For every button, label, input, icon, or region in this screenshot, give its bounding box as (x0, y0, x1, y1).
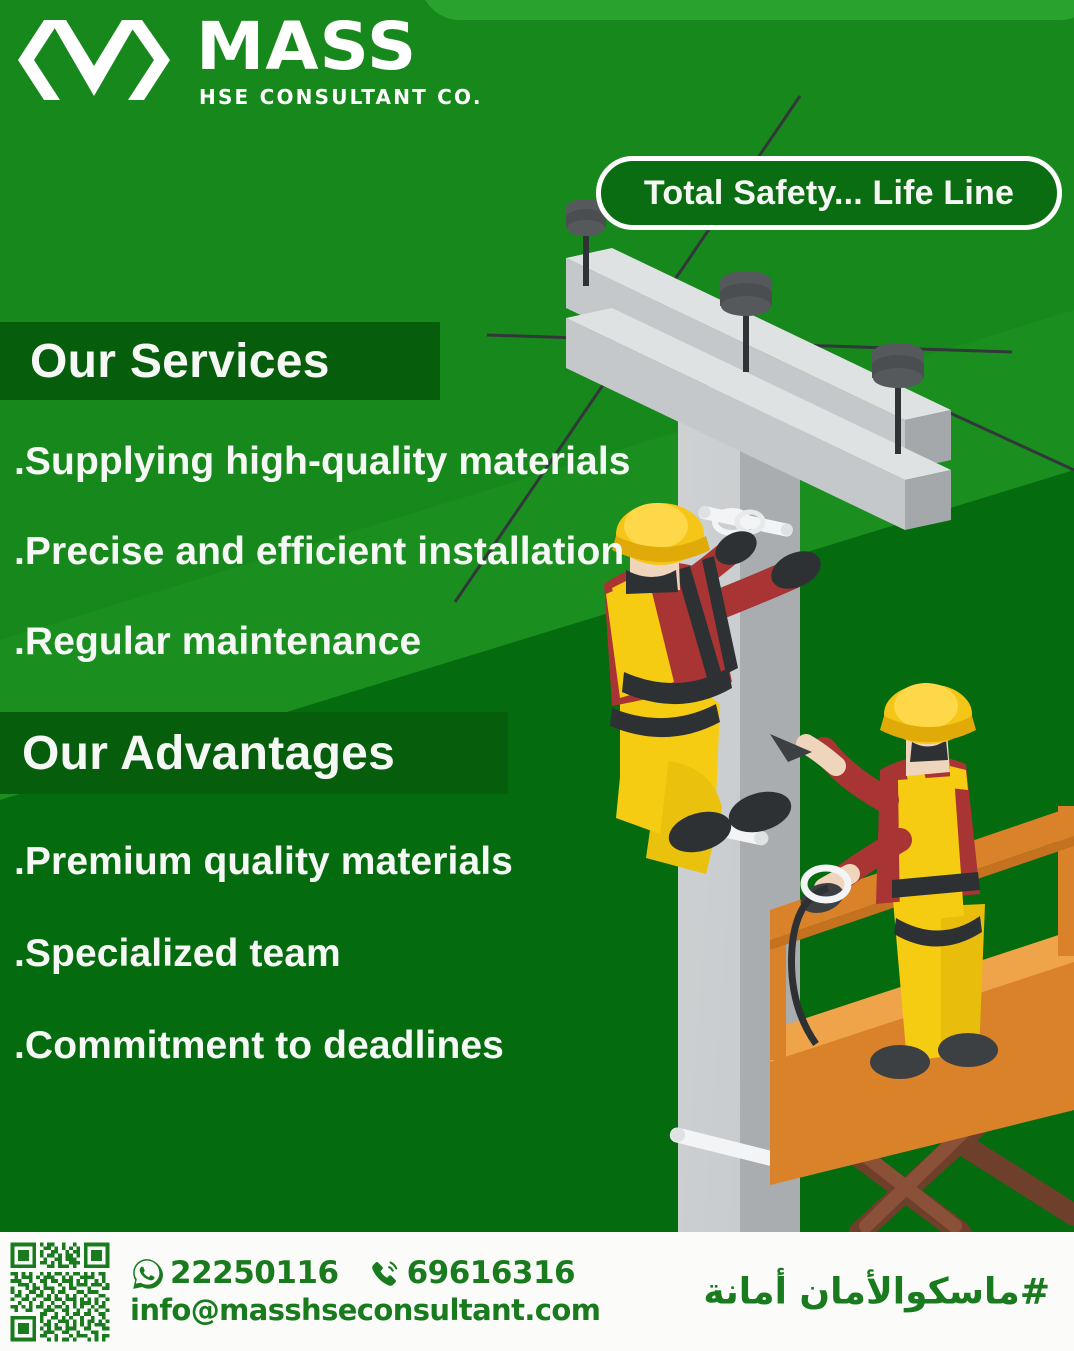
tagline-text: Total Safety... Life Line (644, 174, 1014, 213)
list-item: .Commitment to deadlines (14, 1024, 513, 1068)
whatsapp-number[interactable]: 22250116 (170, 1256, 339, 1291)
mass-chevron-logo-icon (14, 10, 174, 110)
advantages-heading: Our Advantages (0, 726, 395, 781)
poster: MASS HSE CONSULTANT CO. Total Safety... … (0, 0, 1074, 1351)
arabic-hashtag: #ماسكوالأمان أمانة (703, 1271, 1050, 1312)
list-item: .Precise and efficient installation (14, 530, 631, 574)
brand-subtitle: HSE CONSULTANT CO. (196, 85, 483, 109)
services-list: .Supplying high-quality materials .Preci… (14, 440, 631, 710)
list-item: .Supplying high-quality materials (14, 440, 631, 484)
footer-contact-bar: 22250116 69616316 info@masshseconsultant… (0, 1232, 1074, 1351)
list-item: .Regular maintenance (14, 620, 631, 664)
qr-code-icon[interactable] (6, 1239, 114, 1345)
phone-number[interactable]: 69616316 (407, 1256, 576, 1291)
advantages-heading-band: Our Advantages (0, 712, 508, 794)
list-item: .Premium quality materials (14, 840, 513, 884)
email-address[interactable]: info@masshseconsultant.com (130, 1294, 600, 1326)
list-item: .Specialized team (14, 932, 513, 976)
brand-logo: MASS HSE CONSULTANT CO. (14, 10, 483, 110)
brand-name: MASS (196, 16, 494, 79)
services-heading: Our Services (0, 334, 330, 389)
contact-details: 22250116 69616316 info@masshseconsultant… (130, 1256, 600, 1326)
tagline-badge: Total Safety... Life Line (596, 156, 1062, 230)
whatsapp-icon[interactable] (130, 1257, 164, 1291)
advantages-list: .Premium quality materials .Specialized … (14, 840, 513, 1116)
services-heading-band: Our Services (0, 322, 440, 400)
phone-icon[interactable] (367, 1257, 401, 1291)
